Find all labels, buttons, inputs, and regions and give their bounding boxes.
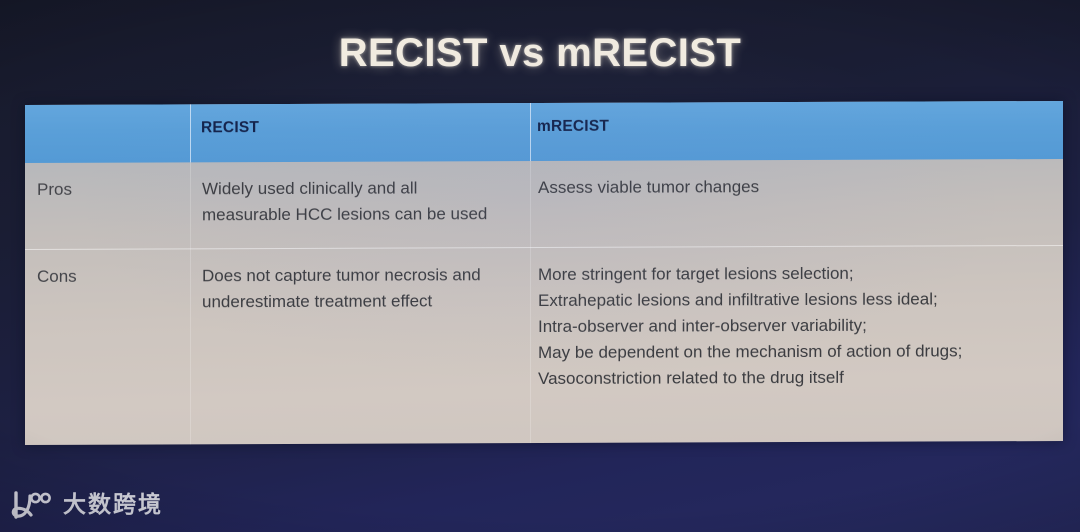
column-header-mrecist: mRECIST: [537, 118, 609, 136]
table-header-row: RECIST mRECIST: [25, 101, 1063, 163]
header-column-divider-2: [530, 103, 531, 161]
table-row: Cons Does not capture tumor necrosis and…: [25, 246, 1063, 445]
watermark-text: 大数跨境: [63, 494, 163, 517]
page-title: RECIST vs mRECIST: [0, 31, 1080, 76]
cell-cons-mrecist: More stringent for target lesions select…: [538, 260, 962, 392]
column-header-recist: RECIST: [201, 119, 259, 137]
cell-pros-mrecist: Assess viable tumor changes: [538, 174, 759, 201]
row-label-pros: Pros: [37, 177, 72, 203]
row-label-cons: Cons: [37, 264, 77, 290]
k-infinity-logo-icon: [10, 490, 54, 520]
watermark: 大数跨境: [10, 490, 163, 520]
cell-cons-recist: Does not capture tumor necrosis and unde…: [202, 262, 481, 315]
header-column-divider-1: [190, 104, 191, 162]
table-row: Pros Widely used clinically and all meas…: [25, 159, 1063, 249]
comparison-table: RECIST mRECIST Pros Widely used clinical…: [25, 101, 1063, 445]
cell-pros-recist: Widely used clinically and all measurabl…: [202, 175, 487, 228]
slide-canvas: RECIST vs mRECIST RECIST mRECIST Pros Wi…: [0, 0, 1080, 532]
